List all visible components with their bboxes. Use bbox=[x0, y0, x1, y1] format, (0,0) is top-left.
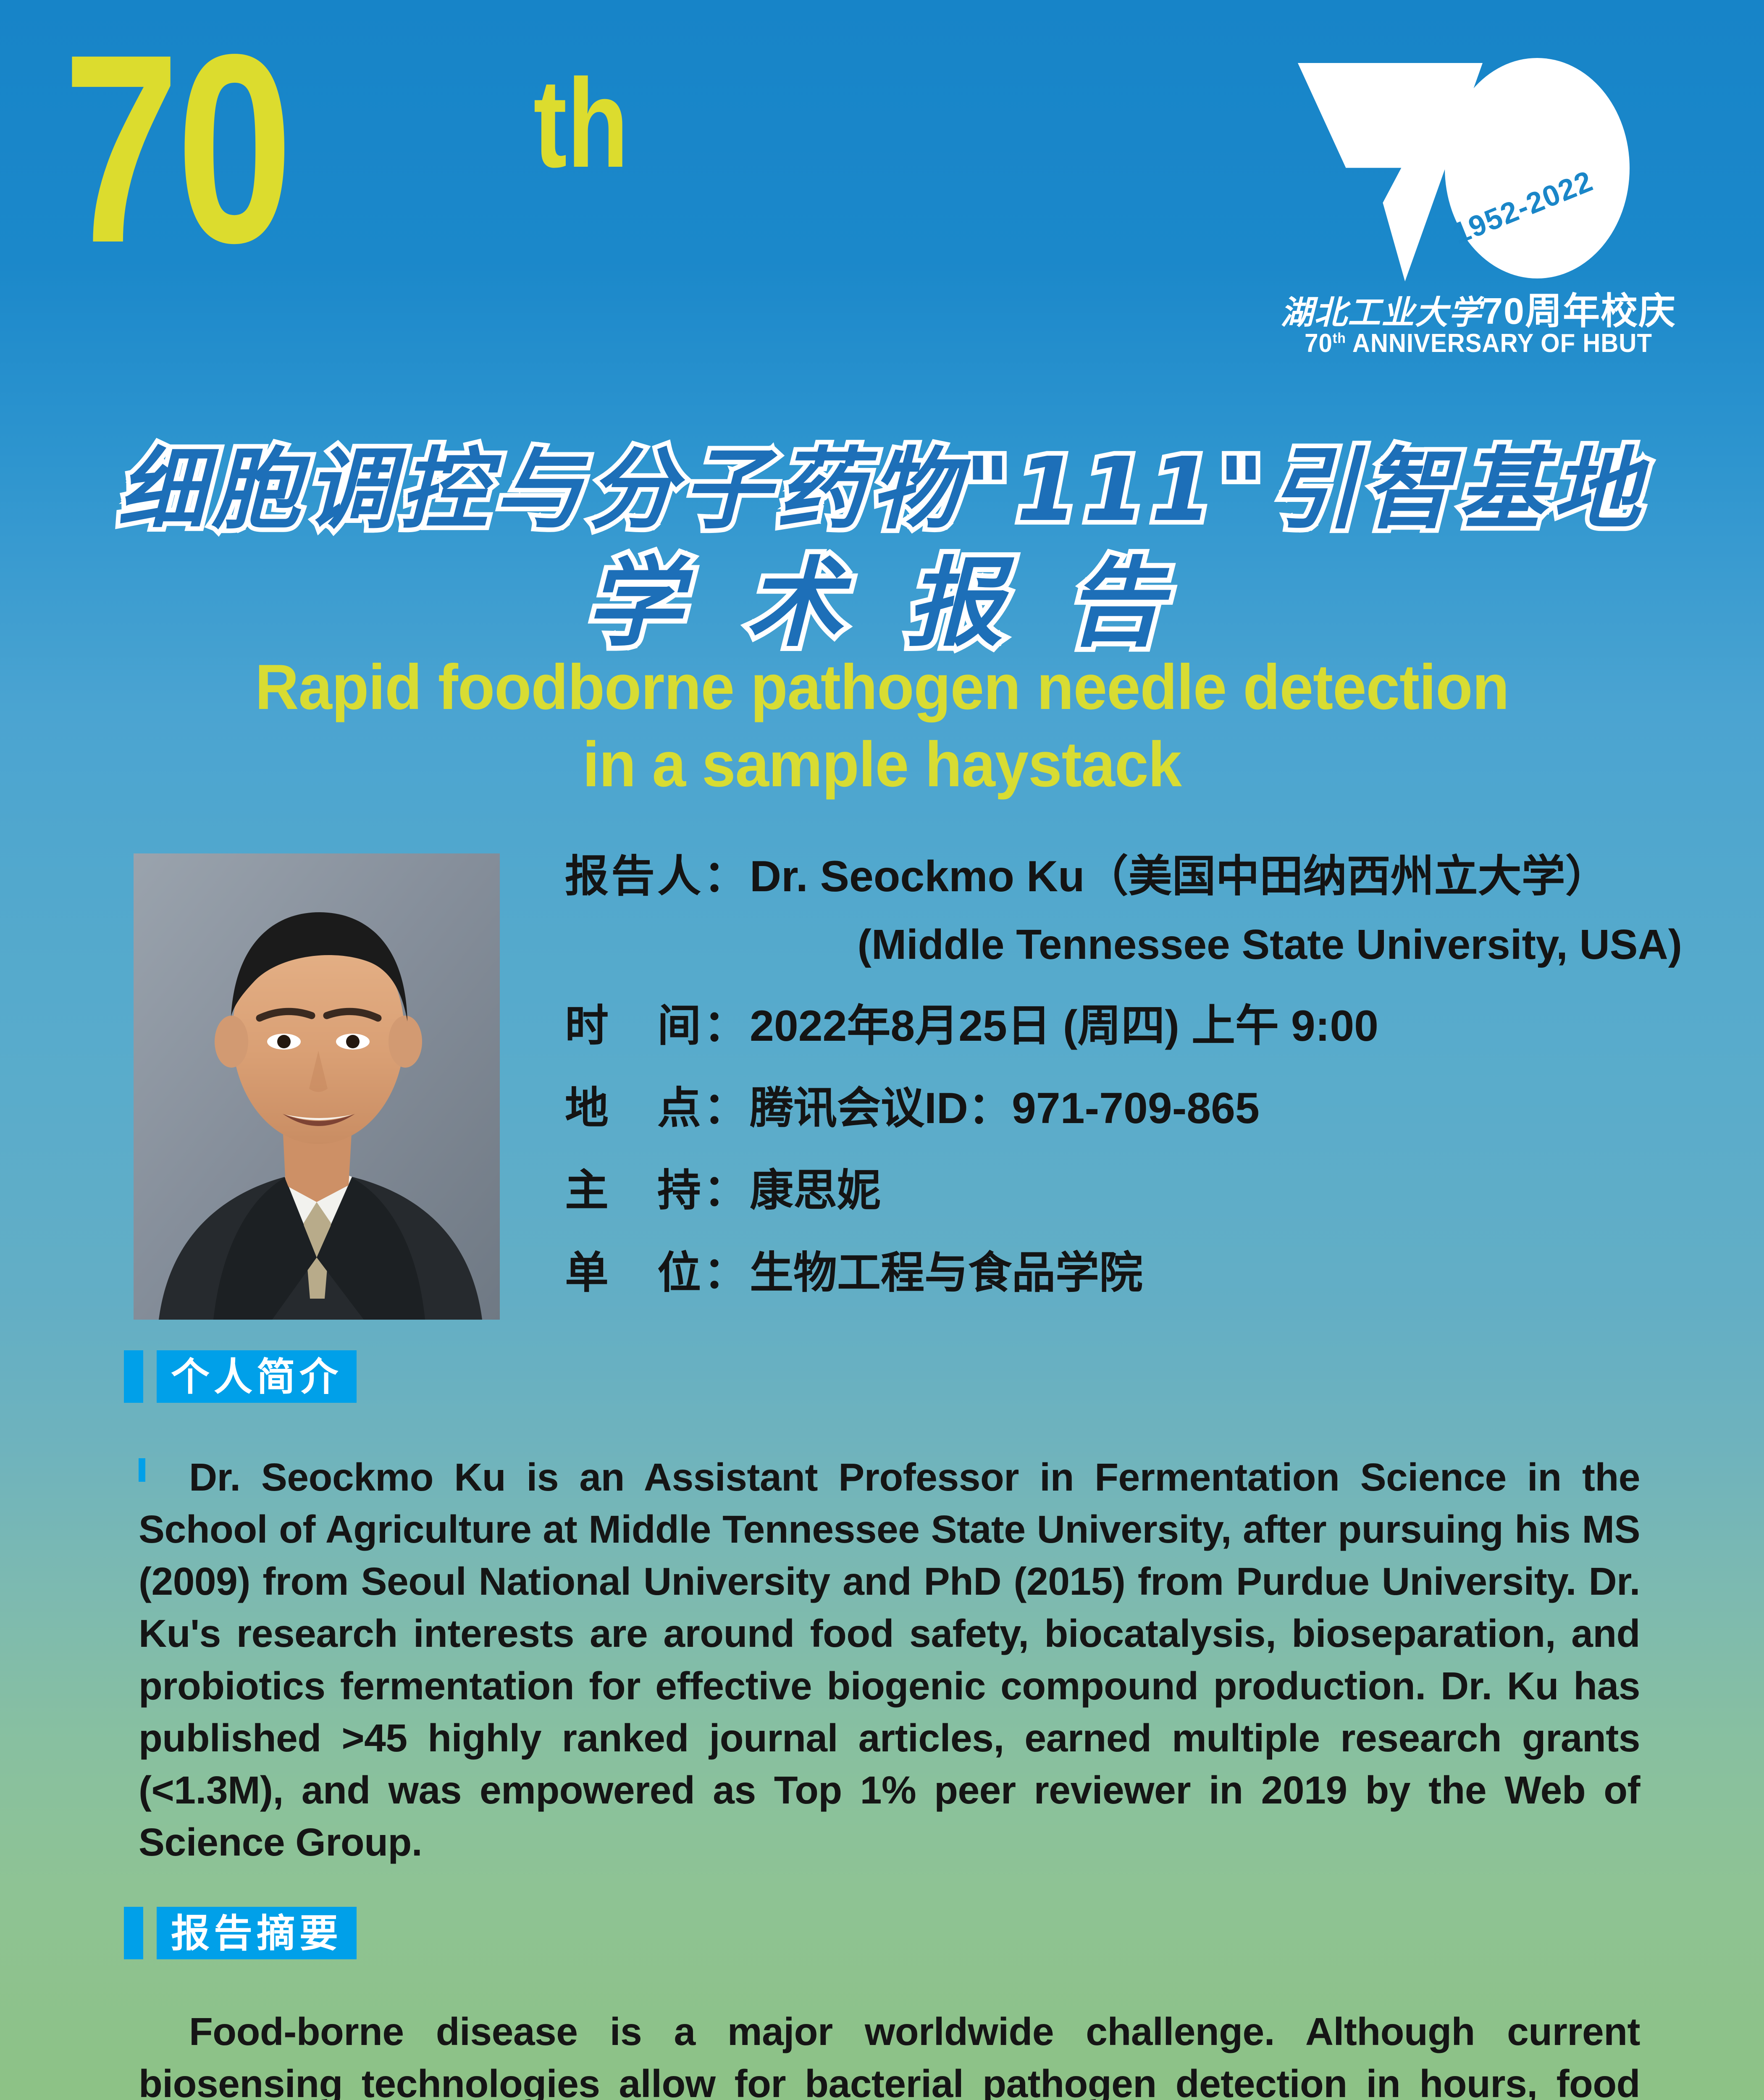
detail-host: 主 持：康思妮 bbox=[565, 1169, 1707, 1213]
event-details: 报告人：Dr. Seockmo Ku（美国中田纳西州立大学） (Middle T… bbox=[565, 855, 1707, 1295]
anniversary-suffix: th bbox=[533, 50, 629, 196]
english-title-line1: Rapid foodborne pathogen needle detectio… bbox=[104, 649, 1660, 726]
detail-host-value: 康思妮 bbox=[750, 1166, 881, 1215]
detail-speaker-value: Dr. Seockmo Ku（美国中田纳西州立大学） bbox=[750, 852, 1609, 901]
hbut-anniversary-logo: 1952-2022 湖北工业大学70周年校庆 70th ANNIVERSARY … bbox=[1256, 46, 1701, 378]
detail-speaker: 报告人：Dr. Seockmo Ku（美国中田纳西州立大学） bbox=[565, 855, 1707, 898]
detail-speaker-label: 报告人： bbox=[565, 852, 750, 901]
detail-place-value: 腾讯会议ID：971-709-865 bbox=[750, 1084, 1260, 1133]
speaker-portrait bbox=[134, 853, 500, 1320]
logo-chinese-line: 湖北工业大学70周年校庆 bbox=[1256, 281, 1701, 335]
logo-anniversary-cn: 70周年校庆 bbox=[1482, 290, 1676, 332]
bio-paragraph: Dr. Seockmo Ku is an Assistant Professor… bbox=[139, 1451, 1640, 1868]
abstract-paragraph: Food-borne disease is a major worldwide … bbox=[139, 2005, 1640, 2100]
detail-time-value: 2022年8月25日 (周四) 上午 9:00 bbox=[750, 1002, 1378, 1050]
detail-time-label: 时 间： bbox=[565, 1002, 750, 1050]
logo-mark-icon: 1952-2022 bbox=[1298, 46, 1676, 281]
english-title-line2: in a sample haystack bbox=[104, 726, 1660, 803]
abstract-heading-bar-icon bbox=[124, 1907, 143, 1959]
english-title: Rapid foodborne pathogen needle detectio… bbox=[104, 649, 1660, 803]
abstract-paragraph-text: Food-borne disease is a major worldwide … bbox=[139, 2010, 1640, 2100]
chinese-main-title: 学 术 报 告 bbox=[0, 525, 1764, 665]
detail-host-label: 主 持： bbox=[565, 1166, 750, 1215]
detail-place: 地 点：腾讯会议ID：971-709-865 bbox=[565, 1087, 1707, 1130]
portrait-illustration-icon bbox=[134, 853, 500, 1320]
bio-paragraph-text: Dr. Seockmo Ku is an Assistant Professor… bbox=[139, 1455, 1640, 1864]
logo-english-line: 70th ANNIVERSARY OF HBUT bbox=[1269, 328, 1688, 358]
logo-en-text: ANNIVERSARY OF HBUT bbox=[1352, 329, 1652, 358]
abstract-heading-label: 报告摘要 bbox=[157, 1907, 357, 1959]
poster-root: 70 th 1952-2022 湖北工业大学70周年校庆 70th ANNIVE… bbox=[0, 0, 1764, 2100]
detail-time: 时 间：2022年8月25日 (周四) 上午 9:00 bbox=[565, 1004, 1707, 1048]
anniversary-number: 70 bbox=[63, 17, 290, 280]
detail-unit-value: 生物工程与食品学院 bbox=[750, 1249, 1143, 1297]
logo-en-prefix: 70 bbox=[1305, 329, 1333, 358]
detail-affiliation: (Middle Tennessee State University, USA) bbox=[565, 924, 1707, 966]
detail-place-label: 地 点： bbox=[565, 1084, 750, 1133]
logo-en-suffix: th bbox=[1333, 330, 1346, 346]
detail-unit: 单 位：生物工程与食品学院 bbox=[565, 1251, 1707, 1295]
detail-unit-label: 单 位： bbox=[565, 1249, 750, 1297]
bio-heading-bar-icon bbox=[124, 1350, 143, 1403]
logo-school-name: 湖北工业大学 bbox=[1281, 294, 1482, 332]
bio-heading-label: 个人简介 bbox=[157, 1350, 357, 1403]
